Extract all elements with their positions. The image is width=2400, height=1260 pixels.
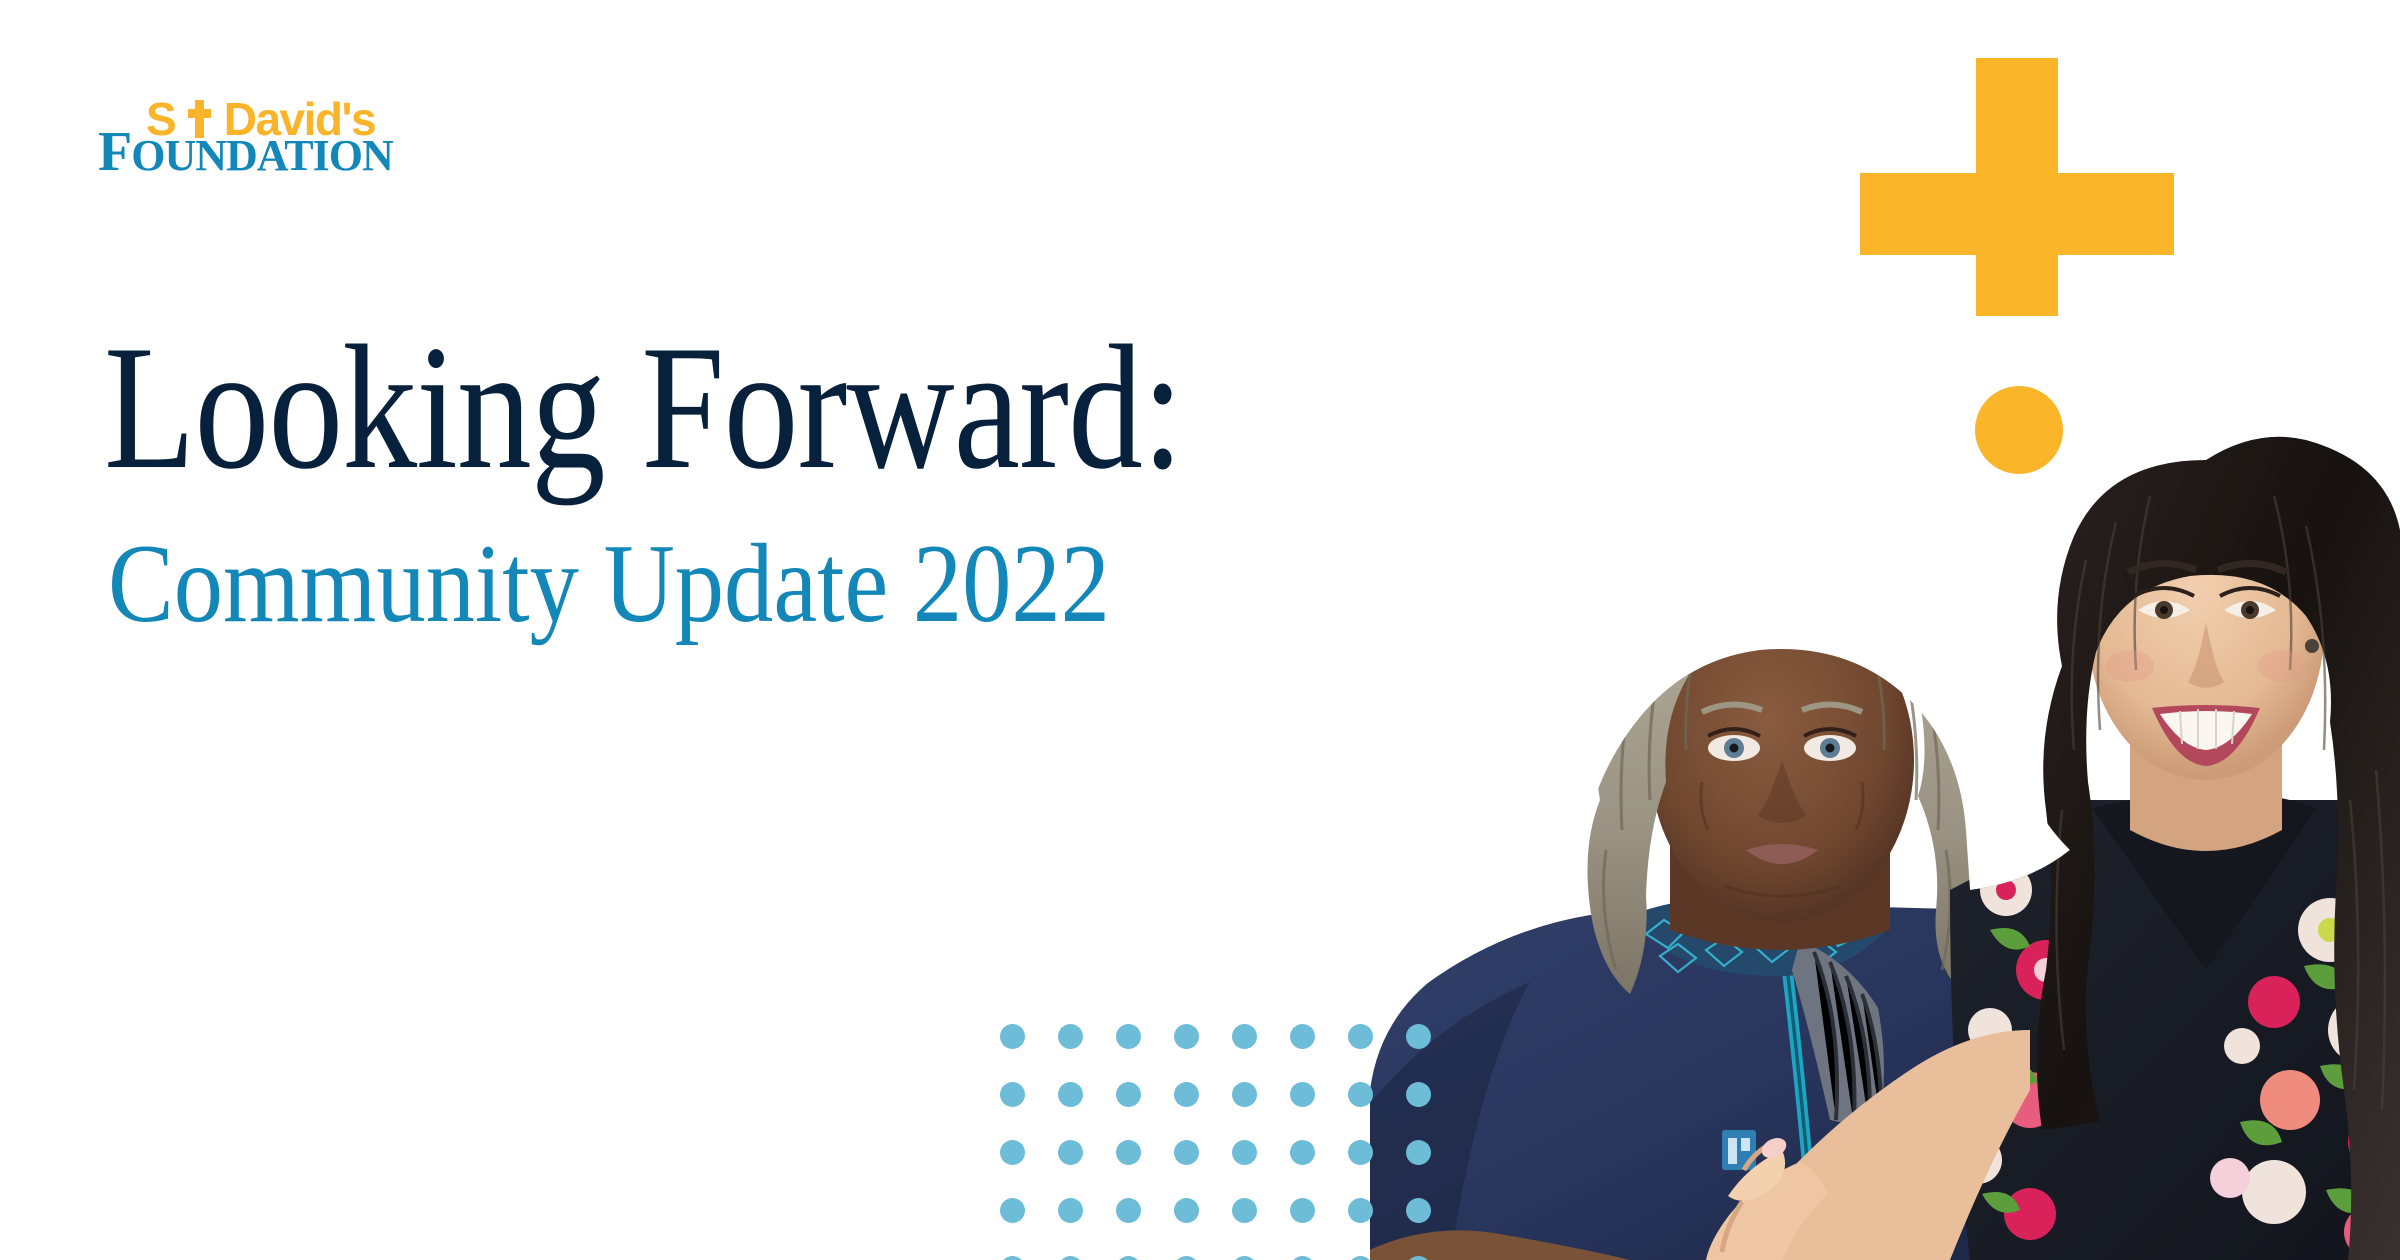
- grid-dot: [1406, 1082, 1431, 1107]
- earring: [2305, 639, 2319, 653]
- brand-logo[interactable]: S David's FOUNDATION: [98, 96, 498, 196]
- grid-dot: [1174, 1082, 1199, 1107]
- grid-dot: [1348, 1256, 1373, 1260]
- grid-dot: [1058, 1140, 1083, 1165]
- blue-dot-grid: [1000, 1024, 1470, 1260]
- grid-dot: [1290, 1140, 1315, 1165]
- grid-dot: [1348, 1198, 1373, 1223]
- grid-dot: [1000, 1140, 1025, 1165]
- grid-dot: [1232, 1082, 1257, 1107]
- grid-dot: [1116, 1140, 1141, 1165]
- page-subtitle: Community Update 2022: [108, 528, 1110, 640]
- grid-dot: [1348, 1082, 1373, 1107]
- yellow-plus-shape: [1860, 58, 2174, 316]
- grid-dot: [1290, 1082, 1315, 1107]
- photo-illustration: [1330, 330, 2400, 1260]
- grid-dot: [1232, 1198, 1257, 1223]
- grid-dot: [1232, 1024, 1257, 1049]
- grid-dot: [1174, 1256, 1199, 1260]
- grid-dot: [1116, 1198, 1141, 1223]
- grid-dot: [1348, 1140, 1373, 1165]
- grid-dot: [1174, 1024, 1199, 1049]
- grid-dot: [1406, 1256, 1431, 1260]
- grid-dot: [1232, 1256, 1257, 1260]
- grid-dot: [1290, 1256, 1315, 1260]
- cover-slide: S David's FOUNDATION Looking Forward: Co…: [0, 0, 2400, 1260]
- cover-photo-two-women: [1330, 330, 2400, 1260]
- grid-dot: [1058, 1024, 1083, 1049]
- grid-dot: [1290, 1024, 1315, 1049]
- grid-dot: [1116, 1256, 1141, 1260]
- grid-dot: [1058, 1198, 1083, 1223]
- grid-dot: [1000, 1082, 1025, 1107]
- grid-dot: [1348, 1024, 1373, 1049]
- grid-dot: [1406, 1024, 1431, 1049]
- grid-dot: [1000, 1198, 1025, 1223]
- grid-dot: [1058, 1256, 1083, 1260]
- grid-dot: [1174, 1198, 1199, 1223]
- plus-horizontal-bar: [1860, 173, 2174, 255]
- cheek-left: [2106, 650, 2154, 682]
- grid-dot: [1058, 1082, 1083, 1107]
- jacket-logo-tag: [1722, 1130, 1756, 1170]
- grid-dot: [1000, 1024, 1025, 1049]
- grid-dot: [1116, 1024, 1141, 1049]
- grid-dot: [1232, 1140, 1257, 1165]
- grid-dot: [1116, 1082, 1141, 1107]
- grid-dot: [1000, 1256, 1025, 1260]
- grid-dot: [1174, 1140, 1199, 1165]
- grid-dot: [1290, 1198, 1315, 1223]
- page-title: Looking Forward:: [104, 318, 1183, 496]
- logo-foundation-initial: F: [98, 121, 131, 183]
- logo-foundation-rest: OUNDATION: [131, 131, 393, 180]
- cheek-right: [2258, 650, 2306, 682]
- grid-dot: [1406, 1140, 1431, 1165]
- grid-dot: [1406, 1198, 1431, 1223]
- logo-foundation: FOUNDATION: [98, 124, 393, 184]
